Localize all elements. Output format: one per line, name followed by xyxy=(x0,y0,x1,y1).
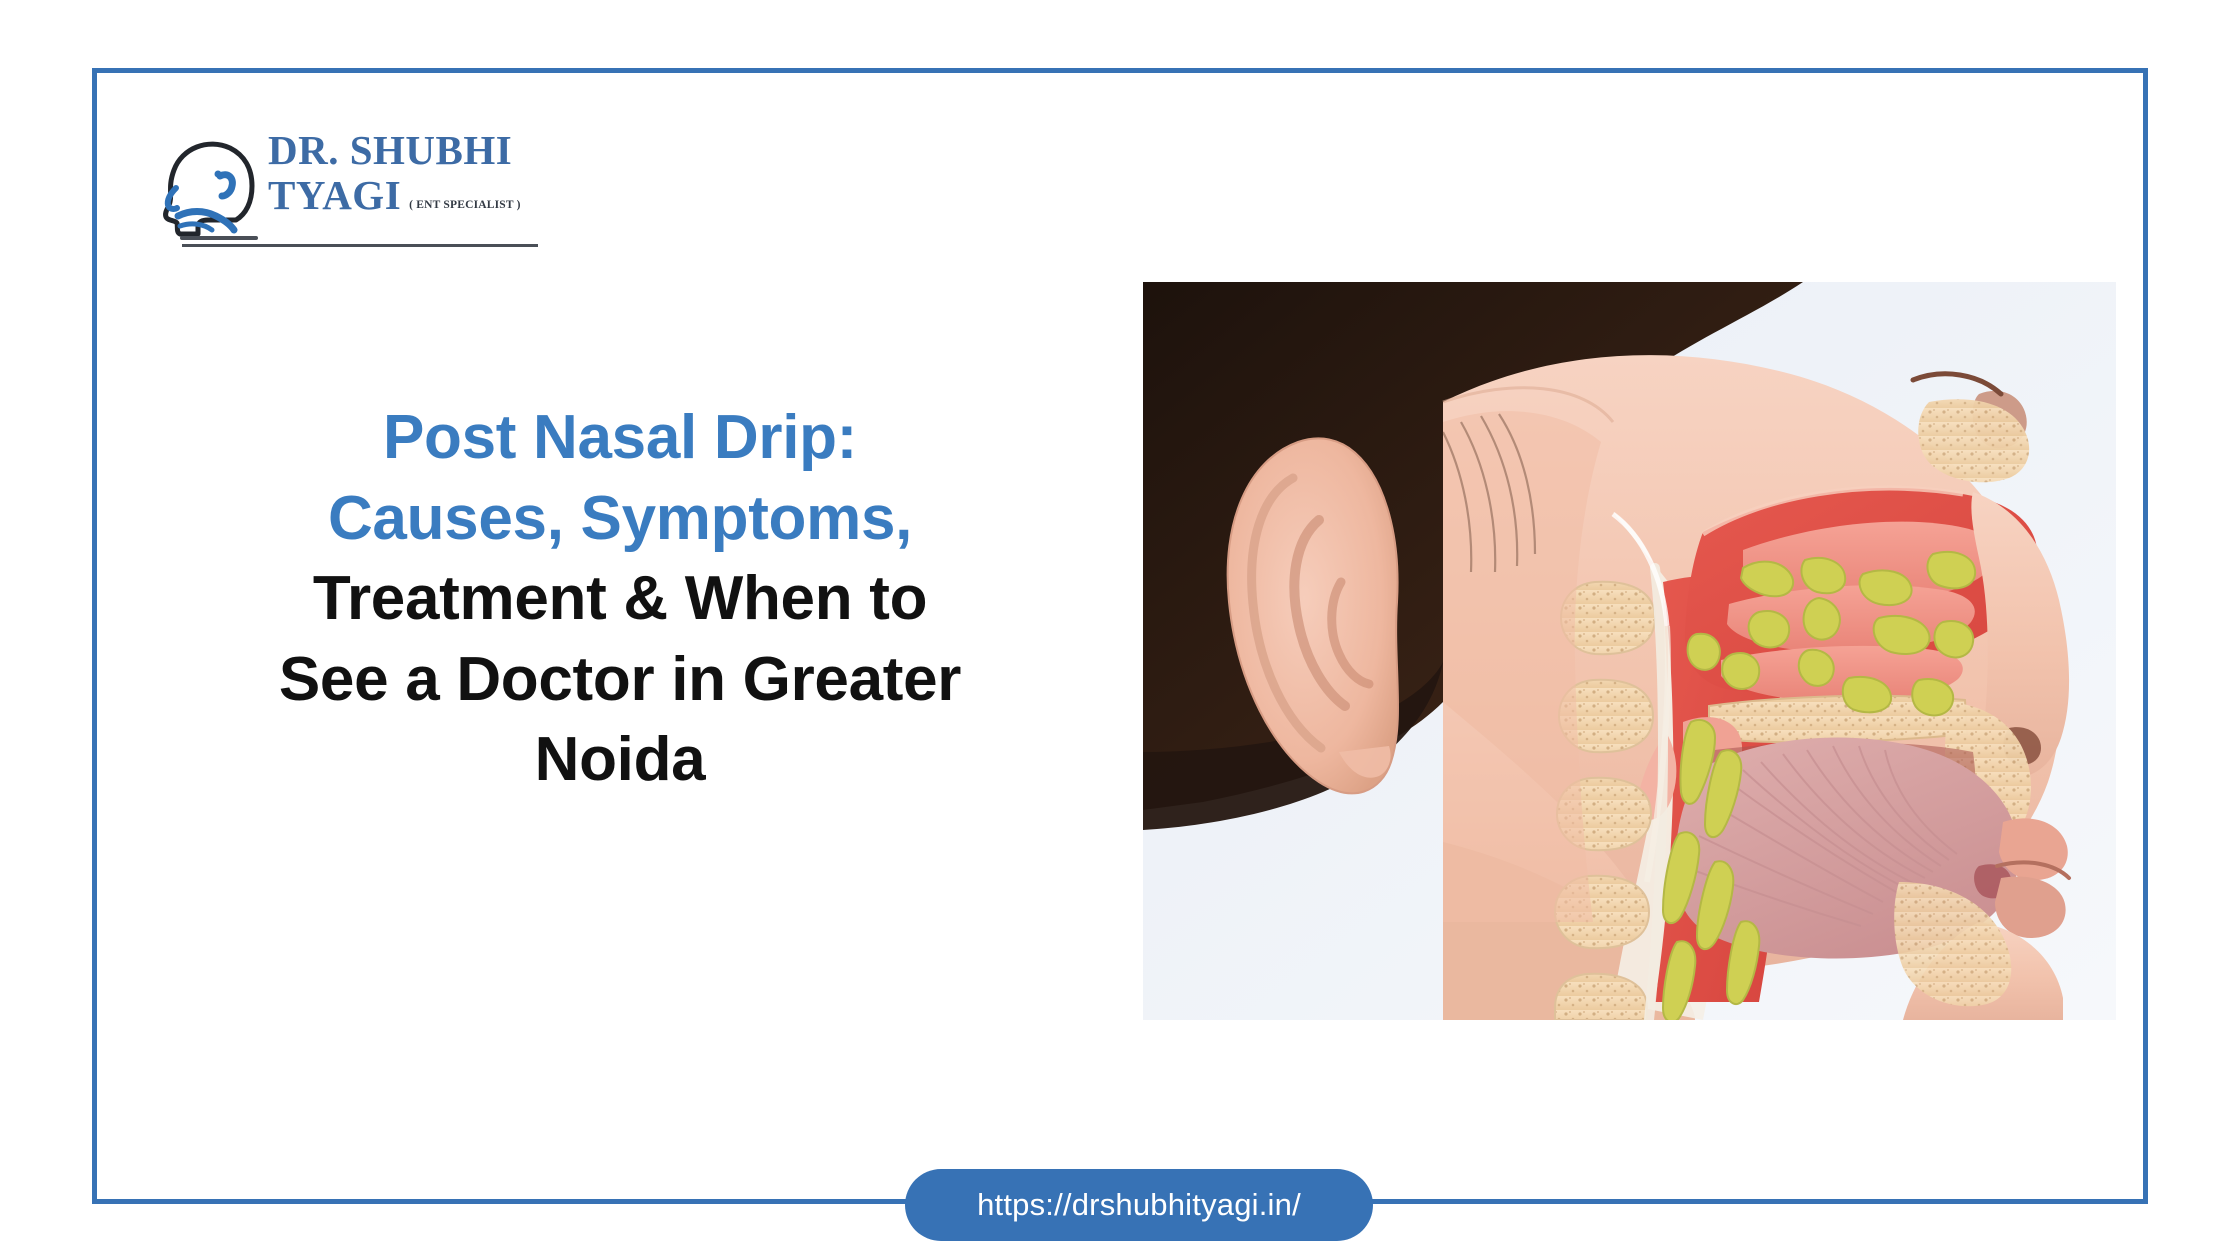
head-profile-icon xyxy=(158,132,270,244)
title-line-5: Noida xyxy=(110,720,1130,801)
website-url-text: https://drshubhityagi.in/ xyxy=(977,1187,1301,1223)
title-line-3: Treatment & When to xyxy=(110,559,1130,640)
head-sagittal-cross-section-illustration xyxy=(1143,282,2116,1020)
page-title: Post Nasal Drip: Causes, Symptoms, Treat… xyxy=(110,398,1130,801)
brand-logo: DR. SHUBHI TYAGI ( ENT SPECIALIST ) xyxy=(158,128,538,258)
logo-underline-rule xyxy=(182,244,538,247)
title-line-4: See a Doctor in Greater xyxy=(110,640,1130,721)
website-url-badge[interactable]: https://drshubhityagi.in/ xyxy=(905,1169,1373,1241)
title-line-1: Post Nasal Drip: xyxy=(110,398,1130,479)
logo-name-line-2: TYAGI xyxy=(268,175,401,216)
logo-name-line-1: DR. SHUBHI xyxy=(268,130,536,171)
logo-specialty-label: ( ENT SPECIALIST ) xyxy=(409,199,521,216)
title-line-2: Causes, Symptoms, xyxy=(110,479,1130,560)
